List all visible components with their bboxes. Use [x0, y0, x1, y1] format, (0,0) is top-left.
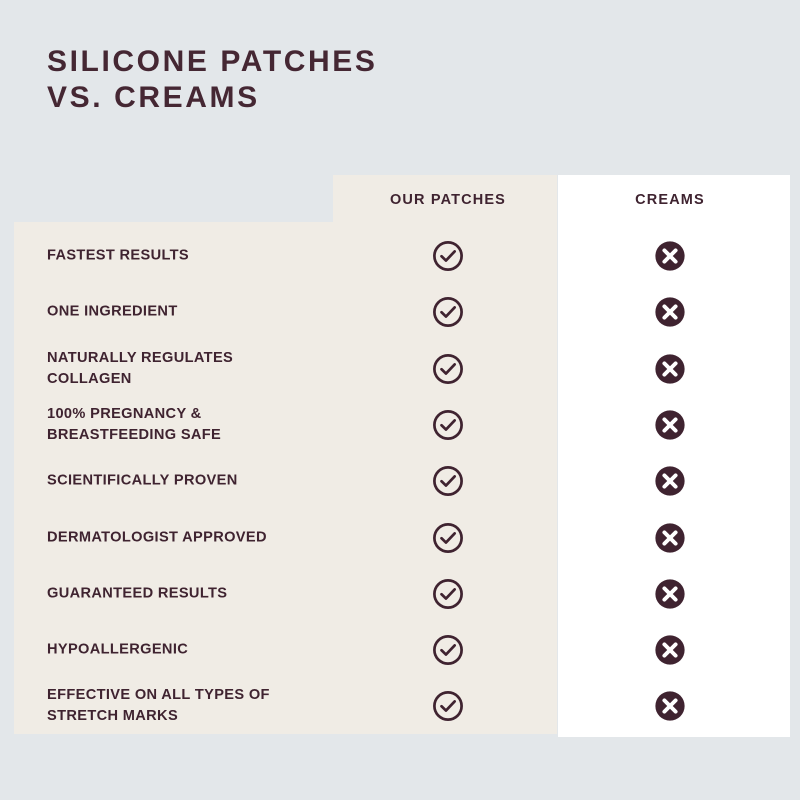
comparison-infographic: SILICONE PATCHES VS. CREAMS OUR PATCHES … [0, 0, 800, 800]
cross-circle-icon [653, 295, 687, 329]
column-header-creams: CREAMS [570, 189, 770, 211]
check-circle-icon [431, 408, 465, 442]
cell-patches [428, 574, 468, 614]
cell-creams [650, 686, 690, 726]
check-circle-icon [431, 521, 465, 555]
table-row: NATURALLY REGULATESCOLLAGEN [0, 342, 800, 396]
cell-creams [650, 574, 690, 614]
cell-patches [428, 405, 468, 445]
cell-patches [428, 236, 468, 276]
cross-circle-icon [653, 689, 687, 723]
check-circle-icon [431, 577, 465, 611]
cross-circle-icon [653, 408, 687, 442]
cell-creams [650, 292, 690, 332]
page-title-line-1: SILICONE PATCHES [47, 44, 547, 80]
column-header-our-patches: OUR PATCHES [348, 189, 548, 211]
table-row: SCIENTIFICALLY PROVEN [0, 454, 800, 508]
cell-patches [428, 349, 468, 389]
row-label-line: EFFECTIVE ON ALL TYPES OF [47, 685, 332, 706]
table-row: EFFECTIVE ON ALL TYPES OFSTRETCH MARKS [0, 679, 800, 733]
row-label-line: DERMATOLOGIST APPROVED [47, 527, 332, 548]
check-circle-icon [431, 352, 465, 386]
row-label: DERMATOLOGIST APPROVED [47, 527, 332, 548]
row-label: HYPOALLERGENIC [47, 640, 332, 661]
row-label-line: HYPOALLERGENIC [47, 640, 332, 661]
cross-circle-icon [653, 633, 687, 667]
check-circle-icon [431, 464, 465, 498]
table-row: ONE INGREDIENT [0, 285, 800, 339]
check-circle-icon [431, 239, 465, 273]
cell-patches [428, 686, 468, 726]
row-label: ONE INGREDIENT [47, 302, 332, 323]
cross-circle-icon [653, 239, 687, 273]
row-label-line: NATURALLY REGULATES [47, 348, 332, 369]
cross-circle-icon [653, 577, 687, 611]
row-label-line: GUARANTEED RESULTS [47, 583, 332, 604]
check-circle-icon [431, 689, 465, 723]
cross-circle-icon [653, 464, 687, 498]
row-label: SCIENTIFICALLY PROVEN [47, 471, 332, 492]
page-title-line-2: VS. CREAMS [47, 80, 547, 116]
cell-creams [650, 630, 690, 670]
cross-circle-icon [653, 521, 687, 555]
cell-creams [650, 236, 690, 276]
row-label-line: ONE INGREDIENT [47, 302, 332, 323]
cell-creams [650, 461, 690, 501]
table-row: DERMATOLOGIST APPROVED [0, 511, 800, 565]
table-row: FASTEST RESULTS [0, 229, 800, 283]
row-label-line: BREASTFEEDING SAFE [47, 425, 332, 446]
row-label-line: COLLAGEN [47, 369, 332, 390]
check-circle-icon [431, 295, 465, 329]
row-label: NATURALLY REGULATESCOLLAGEN [47, 348, 332, 390]
table-row: HYPOALLERGENIC [0, 623, 800, 677]
row-label: FASTEST RESULTS [47, 246, 332, 267]
table-row: 100% PREGNANCY &BREASTFEEDING SAFE [0, 398, 800, 452]
comparison-rows: FASTEST RESULTSONE INGREDIENTNATURALLY R… [0, 225, 800, 733]
cell-creams [650, 405, 690, 445]
cell-patches [428, 461, 468, 501]
row-label: GUARANTEED RESULTS [47, 583, 332, 604]
cell-creams [650, 518, 690, 558]
row-label-line: FASTEST RESULTS [47, 246, 332, 267]
check-circle-icon [431, 633, 465, 667]
row-label-line: STRETCH MARKS [47, 706, 332, 727]
cell-creams [650, 349, 690, 389]
cross-circle-icon [653, 352, 687, 386]
row-label-line: 100% PREGNANCY & [47, 404, 332, 425]
cell-patches [428, 292, 468, 332]
page-title: SILICONE PATCHES VS. CREAMS [47, 44, 547, 116]
cell-patches [428, 630, 468, 670]
row-label-line: SCIENTIFICALLY PROVEN [47, 471, 332, 492]
row-label: EFFECTIVE ON ALL TYPES OFSTRETCH MARKS [47, 685, 332, 727]
cell-patches [428, 518, 468, 558]
row-label: 100% PREGNANCY &BREASTFEEDING SAFE [47, 404, 332, 446]
table-row: GUARANTEED RESULTS [0, 567, 800, 621]
